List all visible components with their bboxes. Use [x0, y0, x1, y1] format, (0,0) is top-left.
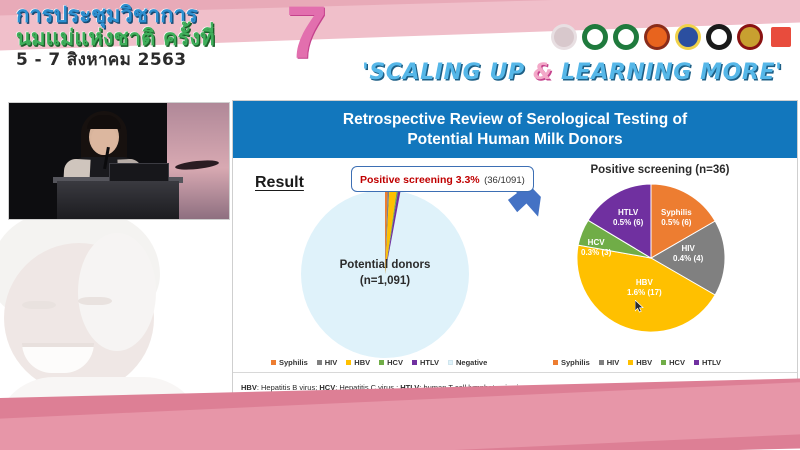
potential-donors-subtitle: (n=1,091) [301, 274, 469, 290]
hcv-slice-label: HCV0.3% (3) [581, 238, 611, 259]
legend-item-hcv-right: HCV [661, 358, 685, 367]
speaker-face [91, 125, 117, 155]
child-watermark-image [0, 205, 229, 420]
royal-college-logo [644, 24, 670, 50]
conference-header: การประชุมวิชาการ นมแม่แห่งชาติ ครั้งที่ … [0, 0, 800, 95]
legend-item-hiv-right: HIV [599, 358, 620, 367]
potential-donors-title: Potential donors [301, 258, 469, 274]
slide-body: Result Positive screening 3.3% (36/1091) [233, 158, 797, 374]
hbv-slice-label: HBV1.6% (17) [627, 278, 662, 299]
legend-item-negative: Negative [448, 358, 487, 367]
legend-item-htlv-right: HTLV [694, 358, 721, 367]
positive-screening-callout: Positive screening 3.3% (36/1091) [351, 166, 534, 192]
legend-item-htlv: HTLV [412, 358, 439, 367]
syphilis-slice-label: Syphilis0.5% (6) [661, 208, 692, 229]
positive-screening-legend: Syphilis HIV HBV HCV HTLV [553, 358, 721, 367]
hiv-slice-label: HIV0.4% (4) [673, 244, 703, 265]
htlv-slice-label: HTLV0.5% (6) [613, 208, 643, 229]
laptop-icon [109, 163, 169, 183]
positive-screening-pie-chart: Syphilis0.5% (6) HIV0.4% (4) HBV1.6% (17… [575, 182, 727, 334]
legend-item-hbv-right: HBV [628, 358, 652, 367]
conference-title-line1: การประชุมวิชาการ [16, 4, 296, 27]
callout-fraction: (36/1091) [484, 175, 525, 186]
legend-item-hcv: HCV [379, 358, 403, 367]
legend-item-syphilis-right: Syphilis [553, 358, 590, 367]
ministry-of-public-health-logo [582, 24, 608, 50]
podium [57, 181, 179, 219]
mouse-cursor-icon [635, 300, 644, 313]
edition-number: 7 [286, 0, 327, 70]
footnote-abbr-hbv: HBV [241, 383, 257, 392]
conference-date: 5 - 7 สิงหาคม 2563 [16, 52, 296, 70]
legend-item-syphilis: Syphilis [271, 358, 308, 367]
slide-title-banner: Retrospective Review of Serological Test… [233, 101, 797, 158]
slide-title-line2: Potential Human Milk Donors [407, 130, 622, 150]
pediatric-society-logo [737, 24, 763, 50]
potential-donors-pie-chart: Potential donors (n=1,091) [301, 190, 469, 358]
conference-title-line2: นมแม่แห่งชาติ ครั้งที่ [16, 27, 296, 50]
thai-breastfeeding-foundation-logo [551, 24, 577, 50]
tagline-ampersand: & [533, 60, 553, 85]
legend-item-hbv: HBV [346, 358, 370, 367]
potential-donors-label: Potential donors (n=1,091) [301, 258, 469, 289]
royal-emblem-logo [675, 24, 701, 50]
positive-screening-pie-title: Positive screening (n=36) [529, 164, 791, 176]
legend-item-hiv: HIV [317, 358, 338, 367]
slide-panel: Retrospective Review of Serological Test… [232, 100, 798, 403]
thaihealth-sss-logo [768, 24, 794, 50]
slide-title-line1: Retrospective Review of Serological Test… [343, 110, 687, 130]
result-heading: Result [255, 174, 304, 192]
callout-percent: Positive screening 3.3% [360, 174, 480, 186]
tagline-part1: 'SCALING UP [362, 60, 533, 85]
potential-donors-legend: Syphilis HIV HBV HCV HTLV Negative [271, 358, 487, 367]
conference-title-thai: การประชุมวิชาการ นมแม่แห่งชาติ ครั้งที่ … [16, 4, 296, 70]
speaker-video-feed[interactable] [8, 102, 230, 220]
tagline-part2: LEARNING MORE' [553, 60, 783, 85]
department-of-health-logo [613, 24, 639, 50]
presentation-screen: การประชุมวิชาการ นมแม่แห่งชาติ ครั้งที่ … [0, 0, 800, 450]
sponsor-logos [551, 24, 794, 50]
nursing-council-logo [706, 24, 732, 50]
conference-tagline: 'SCALING UP & LEARNING MORE' [362, 60, 800, 85]
